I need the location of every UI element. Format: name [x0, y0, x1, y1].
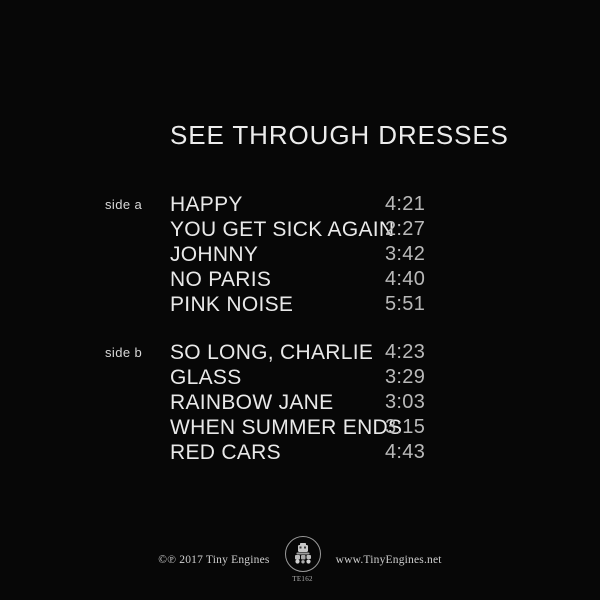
- side-block-b: side b SO LONG, CHARLIE 4:23 GLASS 3:29 …: [0, 340, 600, 465]
- track-duration: 3:42: [385, 242, 425, 267]
- track-duration: 5:51: [385, 292, 425, 317]
- tracklist: side a HAPPY 4:21 YOU GET SICK AGAIN 2:2…: [0, 192, 600, 488]
- track-title: PINK NOISE: [170, 292, 293, 317]
- track-duration: 3:29: [385, 365, 425, 390]
- track-row: PINK NOISE 5:51: [0, 292, 600, 317]
- tiny-engines-emblem-icon: [285, 536, 321, 572]
- track-duration: 4:43: [385, 440, 425, 465]
- track-duration: 3:15: [385, 415, 425, 440]
- album-back-cover: SEE THROUGH DRESSES side a HAPPY 4:21 YO…: [0, 0, 600, 600]
- record-label-mark: TE162: [282, 536, 324, 583]
- track-row: RAINBOW JANE 3:03: [0, 390, 600, 415]
- track-title: YOU GET SICK AGAIN: [170, 217, 394, 242]
- track-duration: 4:40: [385, 267, 425, 292]
- footer: ©℗ 2017 Tiny Engines: [0, 536, 600, 583]
- website-text: www.TinyEngines.net: [336, 554, 442, 566]
- track-row: NO PARIS 4:40: [0, 267, 600, 292]
- track-title: GLASS: [170, 365, 242, 390]
- track-duration: 4:21: [385, 192, 425, 217]
- track-title: SO LONG, CHARLIE: [170, 340, 373, 365]
- track-title: RAINBOW JANE: [170, 390, 333, 415]
- track-title: HAPPY: [170, 192, 243, 217]
- track-row: YOU GET SICK AGAIN 2:27: [0, 217, 600, 242]
- track-row: SO LONG, CHARLIE 4:23: [0, 340, 600, 365]
- side-block-a: side a HAPPY 4:21 YOU GET SICK AGAIN 2:2…: [0, 192, 600, 317]
- track-duration: 4:23: [385, 340, 425, 365]
- track-row: JOHNNY 3:42: [0, 242, 600, 267]
- track-title: JOHNNY: [170, 242, 258, 267]
- album-title: SEE THROUGH DRESSES: [170, 120, 509, 151]
- copyright-text: ©℗ 2017 Tiny Engines: [158, 554, 269, 566]
- track-list-b: SO LONG, CHARLIE 4:23 GLASS 3:29 RAINBOW…: [0, 340, 600, 465]
- catalog-number: TE162: [292, 575, 313, 583]
- track-duration: 3:03: [385, 390, 425, 415]
- track-row: HAPPY 4:21: [0, 192, 600, 217]
- track-row: GLASS 3:29: [0, 365, 600, 390]
- track-row: WHEN SUMMER ENDS 3:15: [0, 415, 600, 440]
- track-title: RED CARS: [170, 440, 281, 465]
- track-list-a: HAPPY 4:21 YOU GET SICK AGAIN 2:27 JOHNN…: [0, 192, 600, 317]
- track-row: RED CARS 4:43: [0, 440, 600, 465]
- track-title: NO PARIS: [170, 267, 271, 292]
- track-title: WHEN SUMMER ENDS: [170, 415, 402, 440]
- track-duration: 2:27: [385, 217, 425, 242]
